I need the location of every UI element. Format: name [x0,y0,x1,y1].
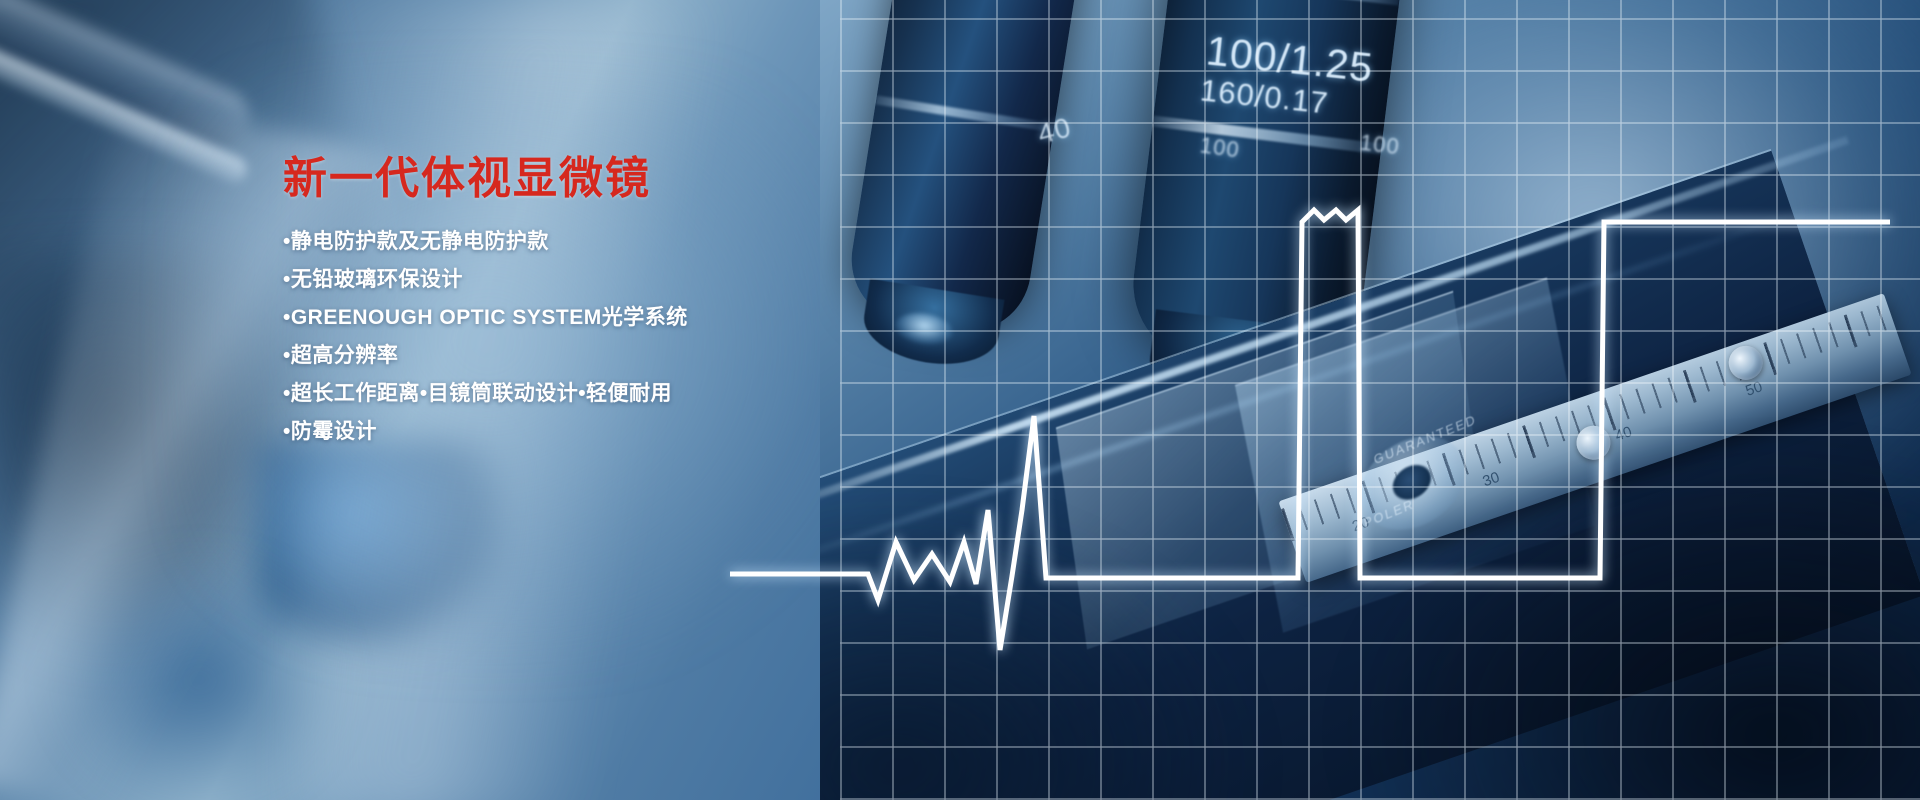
lens-ring [875,95,1054,132]
lens-ring [1152,116,1382,155]
page-title: 新一代体视显微镜 [283,155,843,203]
list-item: •无铅玻璃环保设计 [283,269,843,290]
microscope-photo: 20 30 40 50 [820,0,1920,800]
lens-ring [1170,0,1400,6]
ruler-number: 50 [1743,378,1764,400]
banner-content: 新一代体视显微镜 •静电防护款及无静电防护款 •无铅玻璃环保设计 •GREENO… [283,155,843,459]
hero-banner: 20 30 40 50 GUARANTEED POLER 100/1.25 16… [0,0,1920,800]
photo-shadow-left [820,500,1260,800]
list-item: •超高分辨率 [283,345,843,366]
list-item: •静电防护款及无静电防护款 [283,231,843,252]
list-item: •防霉设计 [283,421,843,442]
list-item: •超长工作距离•目镜筒联动设计•轻便耐用 [283,383,843,404]
list-item: •GREENOUGH OPTIC SYSTEM光学系统 [283,307,843,328]
feature-list: •静电防护款及无静电防护款 •无铅玻璃环保设计 •GREENOUGH OPTIC… [283,231,843,442]
